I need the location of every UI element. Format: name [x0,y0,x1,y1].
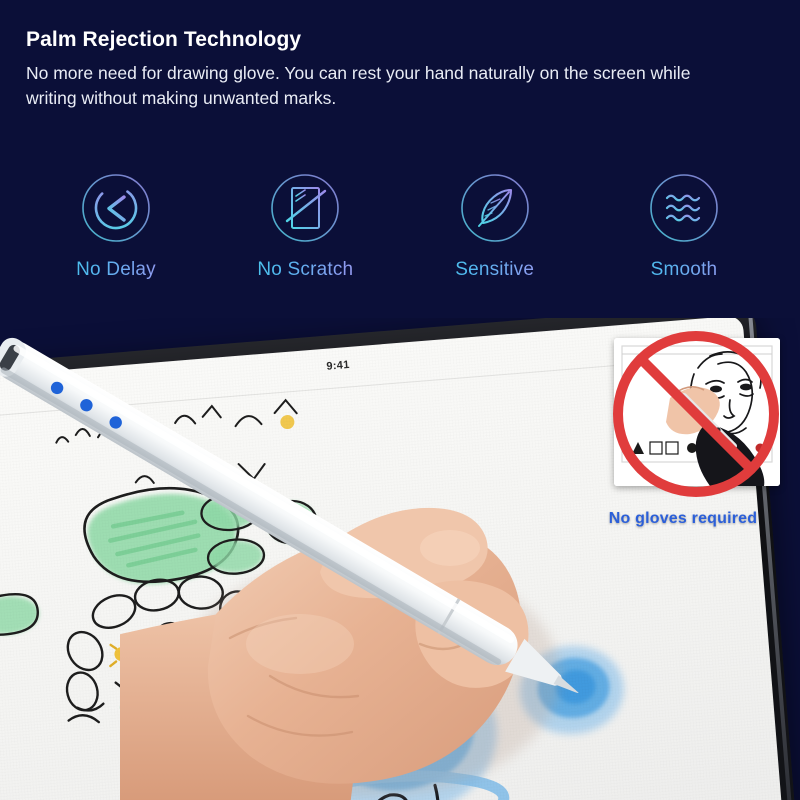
feature-item-sensitive: Sensitive [407,168,583,281]
no-gloves-badge [600,326,792,518]
feature-list: No Delay No Scratch Sensitive [28,168,772,281]
feature-label: No Delay [28,259,204,281]
feature-label: No Scratch [217,259,393,281]
product-feature-image: Palm Rejection Technology No more need f… [0,0,800,800]
wavy-lines-icon [644,168,724,248]
product-photo-scene: 9:41 [0,318,800,800]
feature-label: Sensitive [407,259,583,281]
feather-quill-icon [455,168,535,248]
stylus-pen [0,326,674,726]
stylus-body-group [0,333,589,710]
feature-item-smooth: Smooth [596,168,772,281]
feature-item-no-delay: No Delay [28,168,204,281]
page-subtitle: No more need for drawing glove. You can … [26,61,732,111]
feature-label: Smooth [596,259,772,281]
no-entry-slash-icon [600,326,792,518]
clock-speed-icon [76,168,156,248]
screen-panel-icon [265,168,345,248]
feature-item-no-scratch: No Scratch [217,168,393,281]
no-gloves-caption: No gloves required [578,510,788,528]
header: Palm Rejection Technology No more need f… [26,28,766,111]
page-title: Palm Rejection Technology [26,28,766,52]
